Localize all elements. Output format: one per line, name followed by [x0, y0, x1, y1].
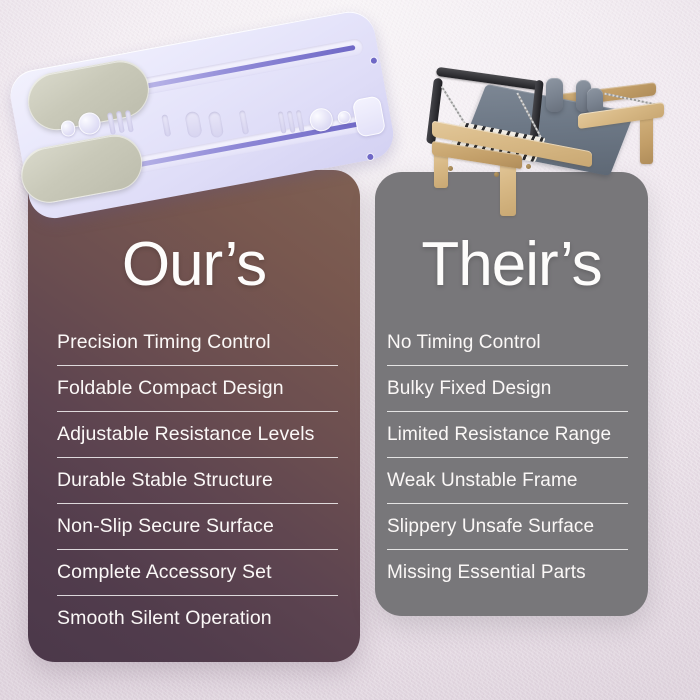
feature-label: Adjustable Resistance Levels: [57, 423, 338, 446]
feature-row: Missing Essential Parts: [387, 561, 628, 584]
feature-row: Bulky Fixed Design: [387, 377, 628, 412]
feature-divider: [57, 411, 338, 412]
feature-label: Bulky Fixed Design: [387, 377, 628, 400]
feature-divider: [387, 549, 628, 550]
theirs-feature-list: No Timing ControlBulky Fixed DesignLimit…: [387, 331, 628, 595]
ours-feature-list: Precision Timing ControlFoldable Compact…: [57, 331, 338, 641]
theirs-heading: Their’s: [375, 228, 648, 302]
feature-divider: [57, 457, 338, 458]
feature-label: Durable Stable Structure: [57, 469, 338, 492]
reformer-screw-2: [494, 172, 499, 177]
feature-row: Weak Unstable Frame: [387, 469, 628, 504]
feature-row: Limited Resistance Range: [387, 423, 628, 458]
comparison-infographic: Our’s Their’s Precision Timing ControlFo…: [0, 0, 700, 700]
feature-row: Foldable Compact Design: [57, 377, 338, 412]
feature-label: Foldable Compact Design: [57, 377, 338, 400]
feature-row: Complete Accessory Set: [57, 561, 338, 596]
reformer-screw-3: [526, 164, 531, 169]
ours-heading: Our’s: [28, 228, 360, 302]
feature-divider: [57, 549, 338, 550]
feature-divider: [387, 365, 628, 366]
feature-divider: [387, 457, 628, 458]
feature-row: Adjustable Resistance Levels: [57, 423, 338, 458]
feature-label: Limited Resistance Range: [387, 423, 628, 446]
feature-row: Smooth Silent Operation: [57, 607, 338, 630]
feature-divider: [387, 411, 628, 412]
feature-label: No Timing Control: [387, 331, 628, 354]
feature-label: Non-Slip Secure Surface: [57, 515, 338, 538]
feature-label: Complete Accessory Set: [57, 561, 338, 584]
feature-label: Slippery Unsafe Surface: [387, 515, 628, 538]
feature-row: Durable Stable Structure: [57, 469, 338, 504]
feature-divider: [57, 503, 338, 504]
feature-divider: [57, 595, 338, 596]
theirs-product-image: [408, 52, 680, 227]
feature-label: Missing Essential Parts: [387, 561, 628, 584]
feature-divider: [57, 365, 338, 366]
reformer-shoulder-roller-left: [546, 78, 563, 112]
feature-label: Weak Unstable Frame: [387, 469, 628, 492]
feature-label: Precision Timing Control: [57, 331, 338, 354]
feature-row: No Timing Control: [387, 331, 628, 366]
feature-label: Smooth Silent Operation: [57, 607, 338, 630]
feature-divider: [387, 503, 628, 504]
feature-row: Non-Slip Secure Surface: [57, 515, 338, 550]
feature-row: Precision Timing Control: [57, 331, 338, 366]
reformer-screw-1: [448, 166, 453, 171]
feature-row: Slippery Unsafe Surface: [387, 515, 628, 550]
